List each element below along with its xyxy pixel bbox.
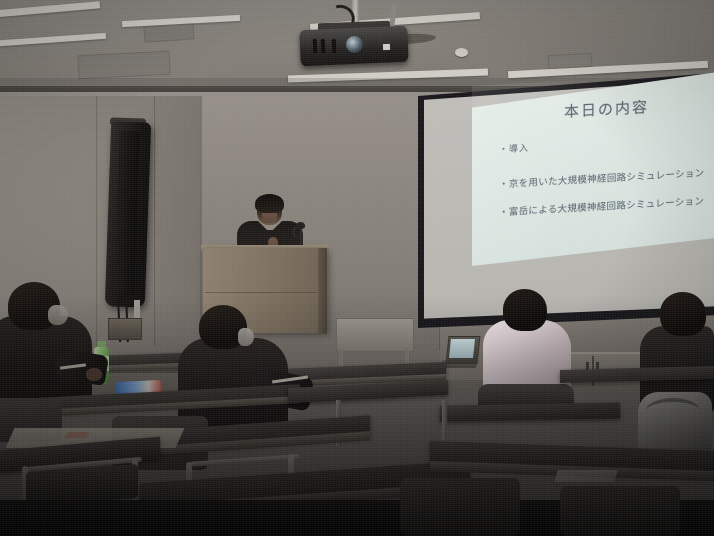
- attendee-far-right-head: [660, 292, 706, 336]
- desk-row-mid: [440, 402, 620, 421]
- lecture-room-photo: 本日の内容 ・導入 ・京を用いた大規模神経回路シミュレーション ・富岳による大規…: [0, 0, 714, 536]
- slide-bullet-1-text: 導入: [509, 144, 529, 155]
- projector-vent-icon: [332, 39, 337, 53]
- presenter-hair: [255, 194, 284, 213]
- bullet-marker-icon: ・: [499, 207, 509, 219]
- slide-bullet-1: ・導入: [499, 141, 529, 156]
- attendee-right-head: [503, 289, 547, 331]
- laptop-screen: [449, 339, 475, 358]
- attendee-front-left-hand: [86, 368, 102, 381]
- projector-vent-icon: [313, 39, 318, 53]
- face-mask-icon: [238, 328, 254, 346]
- slide-bullet-3-text: 富岳による大規模神経回路シミュレーション: [509, 196, 704, 218]
- desk-leg: [442, 400, 447, 440]
- wall-panel-seam: [96, 96, 97, 346]
- smoke-detector-icon: [455, 48, 468, 57]
- projector-indicator: [383, 44, 390, 50]
- bullet-marker-icon: ・: [499, 145, 509, 156]
- podium-seam: [205, 292, 317, 293]
- slide-bullet-3: ・富岳による大規模神経回路シミュレーション: [499, 193, 704, 218]
- projector-vent-icon: [321, 39, 326, 53]
- ceiling-vent: [77, 51, 170, 80]
- ceiling-vent: [548, 53, 593, 69]
- bullet-marker-icon: ・: [499, 179, 509, 191]
- microphone-stem: [300, 228, 302, 246]
- chair-back[interactable]: [560, 486, 680, 536]
- slide-bullet-2-text: 京を用いた大規模神経回路シミュレーション: [509, 168, 705, 190]
- equipment-box: [108, 318, 142, 340]
- slide-bullet-2: ・京を用いた大規模神経回路シミュレーション: [499, 165, 704, 190]
- side-table: [336, 318, 414, 352]
- wall-panel-seam: [154, 96, 155, 346]
- podium-side: [318, 248, 327, 334]
- face-mask-icon: [48, 305, 68, 325]
- paper-sheet: [554, 470, 617, 482]
- slide-title: 本日の内容: [564, 96, 649, 122]
- chair-back[interactable]: [400, 478, 520, 536]
- paper-mark: [65, 432, 90, 438]
- microphone-icon: [296, 222, 305, 229]
- backpack-strap: [646, 398, 700, 424]
